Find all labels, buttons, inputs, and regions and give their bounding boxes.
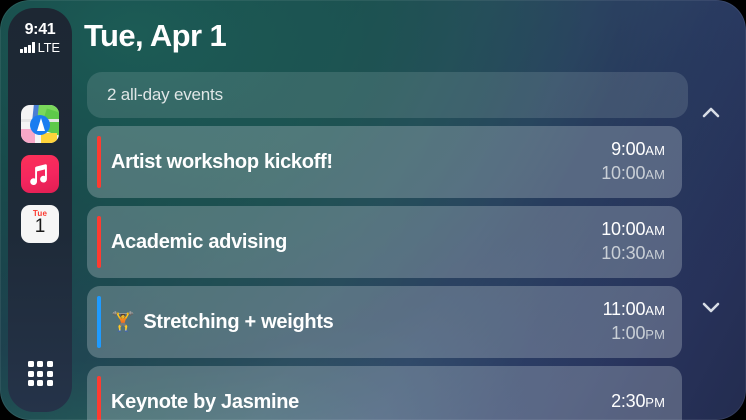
- event-start-time: 9:00AM: [611, 139, 665, 161]
- event-title-group: Academic advising: [111, 231, 287, 254]
- sidebar-app-list: Tue 1: [21, 105, 59, 243]
- all-day-events-label: 2 all-day events: [87, 85, 223, 105]
- chevron-down-icon: [698, 294, 724, 320]
- event-start-meridiem: AM: [645, 143, 665, 158]
- event-times: 9:00AM10:00AM: [601, 139, 682, 185]
- event-accent-bar: [97, 136, 101, 188]
- sidebar-item-maps[interactable]: [21, 105, 59, 143]
- calendar-main-pane: Tue, Apr 1 2 all-day events Artist works…: [80, 0, 746, 420]
- music-note-icon: [21, 155, 59, 193]
- event-start-time-value: 9:00: [611, 139, 645, 159]
- event-end-time: 1:00PM: [611, 323, 665, 345]
- event-title-group: Artist workshop kickoff!: [111, 151, 333, 174]
- event-row[interactable]: Artist workshop kickoff!9:00AM10:00AM: [87, 126, 682, 198]
- event-end-meridiem: AM: [645, 167, 665, 182]
- event-accent-bar: [97, 296, 101, 348]
- event-title-group: 🏋Stretching + weights: [111, 311, 334, 334]
- sidebar-item-calendar[interactable]: Tue 1: [21, 205, 59, 243]
- carplay-screen: 9:41 LTE Tu: [0, 0, 746, 420]
- status-network: LTE: [8, 42, 72, 53]
- event-accent-bar: [97, 376, 101, 420]
- app-grid-icon[interactable]: [28, 361, 53, 386]
- event-title: Artist workshop kickoff!: [111, 151, 333, 174]
- event-end-time-value: 1:00: [611, 323, 645, 343]
- event-start-time: 10:00AM: [601, 219, 665, 241]
- sidebar-item-music[interactable]: [21, 155, 59, 193]
- event-emoji-icon: 🏋: [111, 313, 134, 332]
- event-title: Keynote by Jasmine: [111, 391, 299, 414]
- event-row[interactable]: Keynote by Jasmine2:30PM: [87, 366, 682, 420]
- page-title: Tue, Apr 1: [84, 18, 226, 54]
- event-start-time: 11:00AM: [603, 299, 665, 321]
- cellular-bars-icon: [20, 42, 35, 53]
- event-times: 11:00AM1:00PM: [603, 299, 682, 345]
- event-end-meridiem: AM: [645, 247, 665, 262]
- event-start-time-value: 2:30: [611, 391, 645, 411]
- chevron-up-icon: [698, 100, 724, 126]
- event-start-meridiem: AM: [645, 223, 665, 238]
- sidebar: 9:41 LTE Tu: [8, 8, 72, 412]
- event-start-meridiem: PM: [645, 395, 665, 410]
- network-type-label: LTE: [38, 42, 60, 53]
- status-bar: 9:41 LTE: [8, 21, 72, 53]
- event-row[interactable]: 🏋Stretching + weights11:00AM1:00PM: [87, 286, 682, 358]
- event-end-time-value: 10:30: [601, 243, 645, 263]
- event-times: 10:00AM10:30AM: [601, 219, 682, 265]
- event-row[interactable]: Academic advising10:00AM10:30AM: [87, 206, 682, 278]
- event-end-time-value: 10:00: [601, 163, 645, 183]
- event-times: 2:30PM: [611, 391, 682, 413]
- event-title-group: Keynote by Jasmine: [111, 391, 299, 414]
- event-accent-bar: [97, 216, 101, 268]
- event-end-meridiem: PM: [645, 327, 665, 342]
- event-start-meridiem: AM: [645, 303, 665, 318]
- calendar-day-number: 1: [35, 217, 46, 237]
- event-list: Artist workshop kickoff!9:00AM10:00AMAca…: [87, 126, 682, 420]
- event-title: Academic advising: [111, 231, 287, 254]
- event-start-time: 2:30PM: [611, 391, 665, 413]
- event-title: Stretching + weights: [143, 311, 333, 334]
- scroll-down-button[interactable]: [698, 294, 724, 320]
- event-start-time-value: 10:00: [601, 219, 645, 239]
- status-time: 9:41: [8, 21, 72, 39]
- event-start-time-value: 11:00: [603, 299, 646, 319]
- all-day-events-bar[interactable]: 2 all-day events: [87, 72, 688, 118]
- scroll-up-button[interactable]: [698, 100, 724, 126]
- event-end-time: 10:00AM: [601, 163, 665, 185]
- event-end-time: 10:30AM: [601, 243, 665, 265]
